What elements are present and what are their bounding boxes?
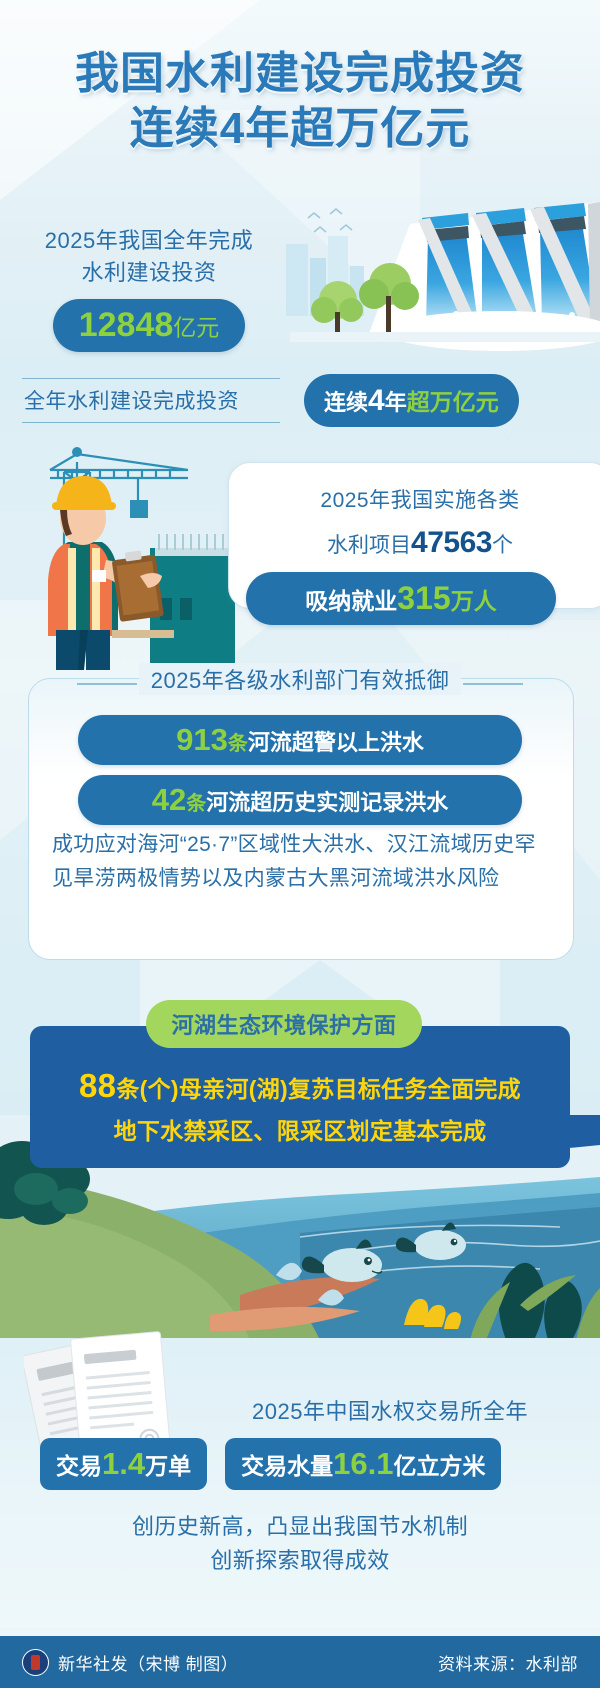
projects-line-2: 水利项目47563个 xyxy=(245,521,595,565)
water-rights-box-2: 交易水量16.1亿立方米 xyxy=(225,1438,501,1490)
title-line-2: 连续4年超万亿元 xyxy=(0,101,600,156)
water-rights-stats: 交易1.4万单 交易水量16.1亿立方米 xyxy=(40,1438,560,1490)
streak-pill: 连续4年超万亿元 xyxy=(304,374,519,427)
investment-lead-1: 2025年我国全年完成 xyxy=(24,225,274,257)
xinhua-logo-icon xyxy=(22,1649,49,1676)
eco-line-2: 地下水禁采区、限采区划定基本完成 xyxy=(30,1113,570,1150)
flood-pill-1-unit: 条 xyxy=(228,733,248,755)
jobs-pill: 吸纳就业315万人 xyxy=(246,572,556,625)
water-rights-heading: 2025年中国水权交易所全年 xyxy=(190,1394,590,1426)
projects-line-1: 2025年我国实施各类 xyxy=(245,485,595,517)
flood-pill-1-text: 河流超警以上洪水 xyxy=(248,730,424,755)
streak-suffix: 超万亿元 xyxy=(407,389,499,415)
eco-badge-label: 河湖生态环境保护方面 xyxy=(171,1013,396,1038)
eco-line1-text: 条(个)母亲河(湖)复苏目标任务全面完成 xyxy=(116,1076,521,1102)
water-rights-box-1: 交易1.4万单 xyxy=(40,1438,207,1490)
wr2-prefix: 交易水量 xyxy=(241,1453,333,1479)
footer-source: 资料来源：水利部 xyxy=(438,1650,578,1675)
flood-heading-dash-left xyxy=(77,683,137,685)
wr1-number: 1.4 xyxy=(102,1446,145,1481)
streak-label-wrap: 全年水利建设完成投资 xyxy=(22,378,294,423)
streak-label: 全年水利建设完成投资 xyxy=(22,379,294,422)
jobs-suffix: 万人 xyxy=(451,588,497,614)
jobs-prefix: 吸纳就业 xyxy=(305,588,397,614)
flood-heading-text: 2025年各级水利部门有效抵御 xyxy=(139,663,461,695)
investment-amount-number: 12848 xyxy=(79,306,174,344)
wr1-prefix: 交易 xyxy=(56,1453,102,1479)
projects-count: 47563 xyxy=(411,526,492,559)
page-title: 我国水利建设完成投资 连续4年超万亿元 xyxy=(0,46,600,157)
streak-mid: 年 xyxy=(385,390,407,415)
flood-paragraph: 成功应对海河“25·7”区域性大洪水、汉江流域历史罕见旱涝两极情势以及内蒙古大黑… xyxy=(52,828,552,896)
wr-foot-line-2: 创新探索取得成效 xyxy=(0,1544,600,1578)
flood-pill-1: 913条河流超警以上洪水 xyxy=(78,715,522,765)
footer-bar: 新华社发（宋博 制图） 资料来源：水利部 xyxy=(0,1636,600,1688)
footer-credit: 新华社发（宋博 制图） xyxy=(58,1650,238,1675)
construction-worker-illustration xyxy=(20,430,235,670)
wr-foot-line-1: 创历史新高，凸显出我国节水机制 xyxy=(0,1510,600,1544)
wr2-suffix: 亿立方米 xyxy=(393,1453,485,1479)
projects-line2-suffix: 个 xyxy=(492,534,513,557)
dam-illustration xyxy=(250,196,600,366)
eco-badge: 河湖生态环境保护方面 xyxy=(146,1000,422,1048)
investment-amount-unit: 亿元 xyxy=(173,314,219,340)
infographic-page: 我国水利建设完成投资 连续4年超万亿元 xyxy=(0,0,600,1688)
water-rights-footnote: 创历史新高，凸显出我国节水机制 创新探索取得成效 xyxy=(0,1510,600,1578)
divider-bottom xyxy=(22,422,280,423)
streak-block: 全年水利建设完成投资 连续4年超万亿元 xyxy=(22,374,578,427)
streak-prefix: 连续 xyxy=(324,390,368,415)
wr1-suffix: 万单 xyxy=(145,1453,191,1479)
flood-pill-1-number: 913 xyxy=(176,722,228,757)
flood-pill-2-unit: 条 xyxy=(186,793,206,815)
investment-lead-2: 水利建设投资 xyxy=(24,257,274,289)
flood-pill-2-number: 42 xyxy=(152,782,186,817)
flood-pill-2: 42条河流超历史实测记录洪水 xyxy=(78,775,522,825)
jobs-number: 315 xyxy=(397,580,450,616)
flood-pill-2-text: 河流超历史实测记录洪水 xyxy=(206,790,448,815)
flood-heading-dash-right xyxy=(463,683,523,685)
footer-credit-group: 新华社发（宋博 制图） xyxy=(22,1649,238,1676)
eco-line-1: 88条(个)母亲河(湖)复苏目标任务全面完成 xyxy=(30,1060,570,1113)
projects-line2-prefix: 水利项目 xyxy=(327,534,411,557)
investment-amount-pill: 12848亿元 xyxy=(53,299,246,352)
streak-number: 4 xyxy=(368,384,385,417)
eco-number: 88 xyxy=(79,1067,116,1104)
title-line-1: 我国水利建设完成投资 xyxy=(0,46,600,101)
wr2-number: 16.1 xyxy=(333,1446,393,1481)
investment-block: 2025年我国全年完成 水利建设投资 12848亿元 xyxy=(24,225,274,352)
flood-heading: 2025年各级水利部门有效抵御 xyxy=(0,663,600,695)
